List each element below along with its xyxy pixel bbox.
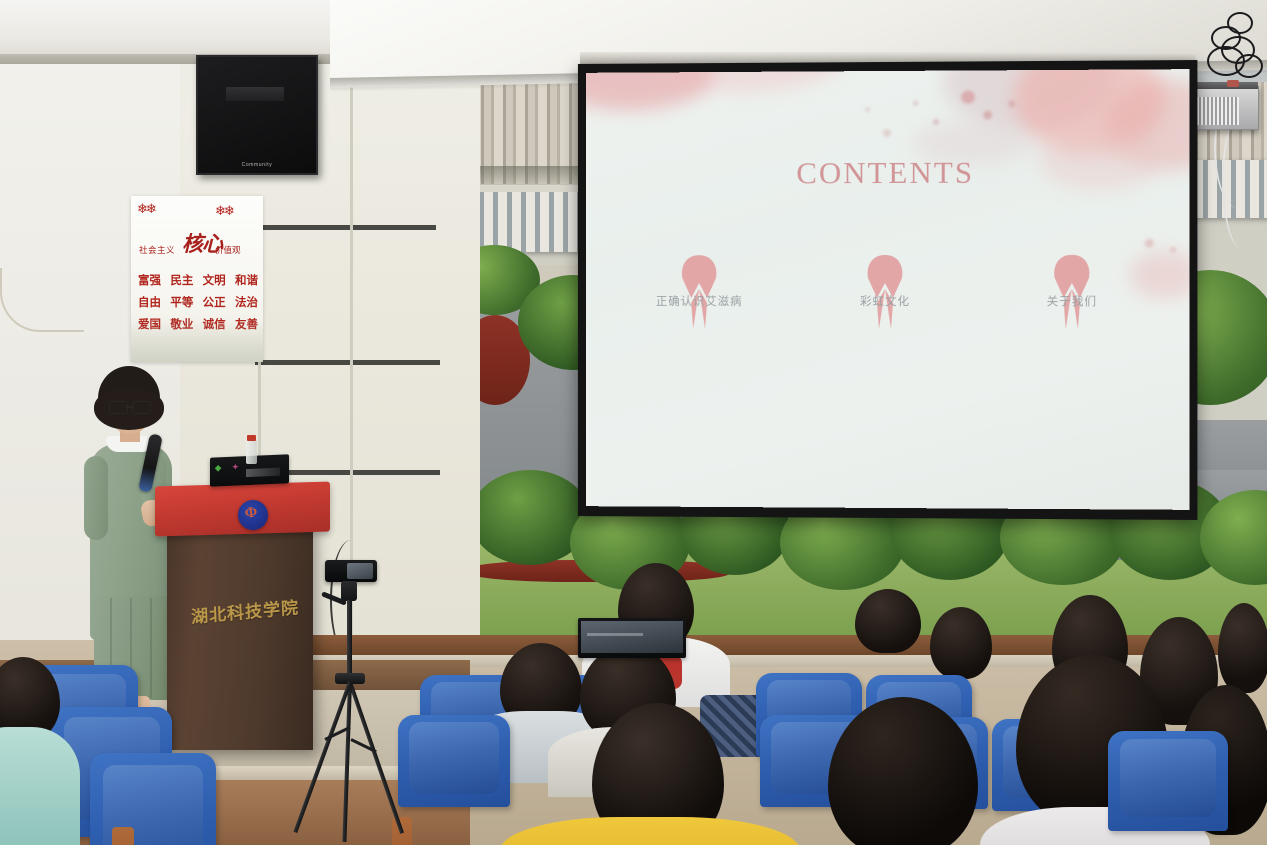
university-emblem-icon: Φ bbox=[238, 500, 268, 530]
speaker-brand-label: Community bbox=[198, 162, 316, 168]
contents-item-3[interactable]: 关于我们 bbox=[981, 251, 1163, 340]
poster-value: 自由 bbox=[138, 294, 161, 310]
eyeglasses-icon bbox=[109, 401, 151, 412]
watercolor-speck bbox=[983, 110, 992, 119]
poster-value: 和谐 bbox=[235, 272, 258, 288]
contents-item-1-label: 正确认识艾滋病 bbox=[610, 293, 788, 309]
core-values-poster: ❄❄ ❄❄ 社会主义 核心 价值观 富强 民主 文明 和谐 自由 平等 公正 法… bbox=[131, 196, 263, 362]
water-bottle bbox=[246, 440, 257, 464]
poster-heading-suffix: 价值观 bbox=[215, 244, 241, 256]
laptop-screen-content bbox=[246, 468, 280, 477]
contents-item-2-label: 彩虹文化 bbox=[795, 293, 975, 309]
audience-shoulders bbox=[0, 727, 80, 845]
poster-value: 富强 bbox=[138, 272, 161, 288]
poster-value: 法治 bbox=[235, 294, 258, 310]
poster-heading-prefix: 社会主义 bbox=[139, 244, 175, 256]
watercolor-speck bbox=[883, 129, 891, 137]
poster-value: 平等 bbox=[170, 294, 193, 310]
audience-head bbox=[930, 607, 992, 679]
presentation-slide: CONTENTS 正确认识艾滋病 bbox=[586, 69, 1190, 510]
projector-lens-icon bbox=[1227, 80, 1239, 87]
tripod-leg bbox=[342, 682, 352, 842]
tripod-leg bbox=[348, 681, 404, 834]
slide-contents-items: 正确认识艾滋病 彩虹文化 bbox=[586, 251, 1190, 382]
auditorium-scene: Community ❄❄ ❄❄ 社会主义 核心 价值观 富强 民主 文明 和谐 … bbox=[0, 0, 1267, 845]
projector-cable bbox=[1222, 110, 1264, 250]
poster-row-1: 富强 民主 文明 和谐 bbox=[138, 272, 258, 288]
contents-item-2[interactable]: 彩虹文化 bbox=[795, 251, 975, 339]
watercolor-speck bbox=[1008, 100, 1015, 107]
laptop-sticker-green-icon: ◆ bbox=[215, 463, 221, 472]
slide-title: CONTENTS bbox=[586, 154, 1190, 192]
bottle-cap bbox=[247, 435, 256, 441]
speaker-grille bbox=[226, 87, 284, 101]
phone-screen bbox=[347, 563, 373, 579]
seat[interactable] bbox=[90, 753, 216, 845]
poster-value: 文明 bbox=[203, 272, 226, 288]
watercolor-speck bbox=[933, 119, 939, 125]
tripod-center-column bbox=[347, 600, 352, 678]
watercolor-speck bbox=[913, 101, 918, 106]
projection-screen: CONTENTS 正确认识艾滋病 bbox=[575, 62, 1195, 518]
audience-shoulders bbox=[500, 817, 800, 845]
audience-laptop-screen bbox=[581, 621, 683, 653]
wall-speaker: Community bbox=[196, 55, 318, 175]
laptop-sticker-pink-icon: ✦ bbox=[232, 462, 239, 471]
seat[interactable] bbox=[398, 715, 510, 807]
presenter-left-arm bbox=[84, 456, 108, 540]
watercolor-speck bbox=[1145, 239, 1154, 248]
emblem-bird-glyph: Φ bbox=[244, 504, 259, 523]
cloud-ornament-right: ❄❄ bbox=[215, 204, 233, 217]
watercolor-speck bbox=[865, 107, 870, 112]
poster-value: 公正 bbox=[203, 294, 226, 310]
cloud-ornament-left: ❄❄ bbox=[137, 202, 155, 215]
wall-seam bbox=[255, 360, 440, 365]
seat-armrest bbox=[112, 827, 134, 845]
audience-laptop[interactable] bbox=[578, 618, 686, 658]
poster-value: 民主 bbox=[170, 272, 193, 288]
audience-head bbox=[855, 589, 921, 653]
poster-row-2: 自由 平等 公正 法治 bbox=[138, 294, 258, 310]
contents-item-1[interactable]: 正确认识艾滋病 bbox=[610, 251, 788, 339]
contents-item-3-label: 关于我们 bbox=[981, 293, 1163, 309]
audience bbox=[0, 555, 1267, 845]
tripod-head bbox=[341, 581, 357, 601]
poster-mountain-wash bbox=[131, 320, 263, 362]
audience-head bbox=[1218, 603, 1267, 693]
poster-heading: 社会主义 核心 价值观 bbox=[139, 228, 257, 260]
phone-tripod bbox=[305, 560, 401, 845]
watercolor-speck bbox=[961, 91, 975, 104]
seat[interactable] bbox=[1108, 731, 1228, 831]
recording-smartphone[interactable] bbox=[325, 560, 377, 582]
